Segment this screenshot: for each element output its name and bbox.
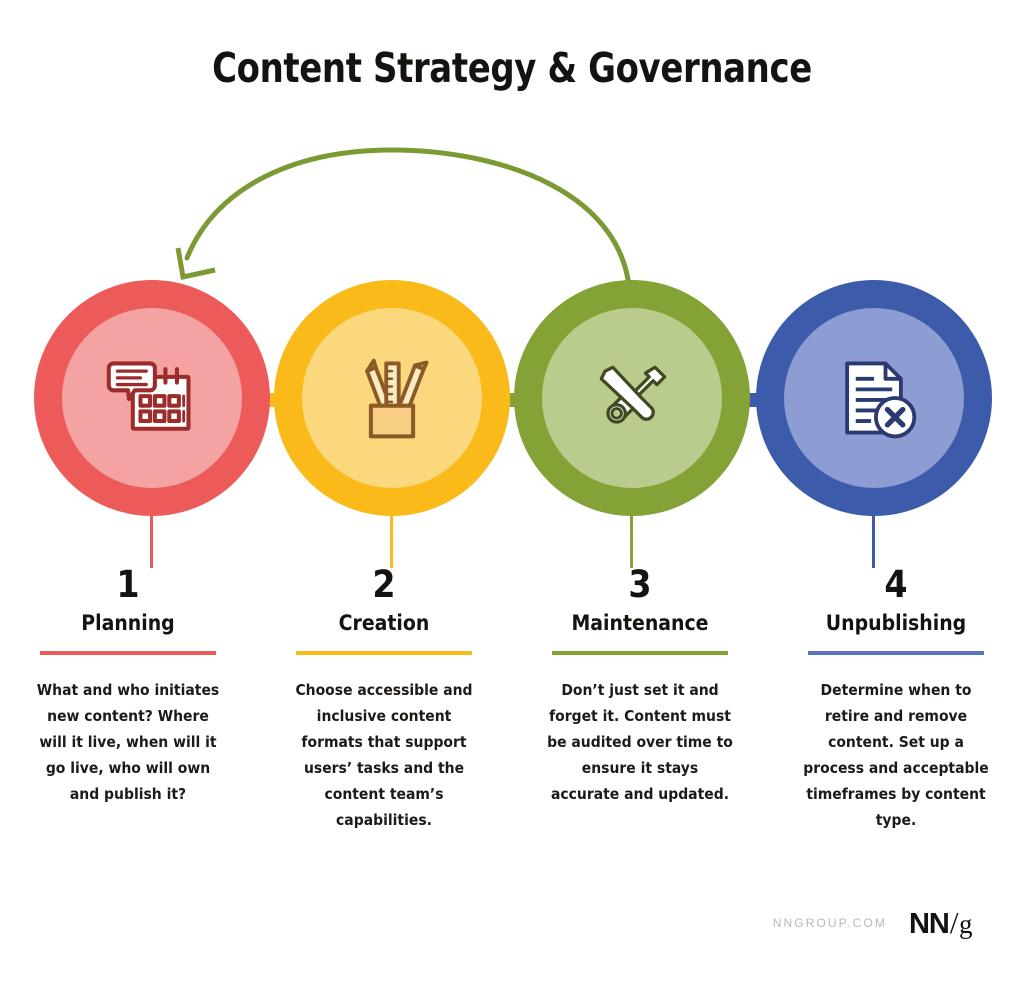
footer-url: NNGROUP.COM (773, 916, 887, 930)
step-column-planning: 1 Planning What and who initiates new co… (0, 566, 256, 833)
step-divider-rule (40, 651, 216, 655)
step-divider-rule (808, 651, 984, 655)
step-title: Maintenance (572, 613, 709, 634)
step-number: 1 (116, 566, 139, 603)
step-description: Choose accessible and inclusive content … (291, 677, 477, 833)
step-description: Determine when to retire and remove cont… (803, 677, 989, 833)
logo-nn: NN (909, 908, 949, 941)
nng-logo: NN/g (909, 905, 972, 941)
calendar-speech-bubble-icon (104, 350, 200, 446)
step-circle-creation[interactable] (274, 280, 510, 516)
step-number: 2 (372, 566, 395, 603)
step-description: What and who initiates new content? Wher… (35, 677, 221, 807)
step-title: Creation (339, 613, 430, 634)
step-text-columns: 1 Planning What and who initiates new co… (0, 566, 1024, 833)
step-column-unpublishing: 4 Unpublishing Determine when to retire … (768, 566, 1024, 833)
inner-circle-yellow (302, 308, 482, 488)
step-divider-rule (552, 651, 728, 655)
step-number: 4 (884, 566, 907, 603)
step-circle-unpublishing[interactable] (756, 280, 992, 516)
inner-circle-green (542, 308, 722, 488)
inner-circle-red (62, 308, 242, 488)
page-title: Content Strategy & Governance (41, 44, 983, 92)
step-description: Don’t just set it and forget it. Content… (547, 677, 733, 807)
step-title: Planning (81, 613, 174, 634)
stem-line-unpublishing (872, 516, 875, 568)
step-column-maintenance: 3 Maintenance Don’t just set it and forg… (512, 566, 768, 833)
step-number: 3 (628, 566, 651, 603)
logo-slash: / (950, 905, 958, 941)
tools-wrench-screwdriver-icon (584, 350, 680, 446)
step-circle-planning[interactable] (34, 280, 270, 516)
footer: NNGROUP.COM NN/g (773, 905, 972, 941)
step-column-creation: 2 Creation Choose accessible and inclusi… (256, 566, 512, 833)
process-circles-row (0, 280, 1024, 516)
stem-line-planning (150, 516, 153, 568)
inner-circle-blue (784, 308, 964, 488)
stem-line-creation (390, 516, 393, 568)
stem-line-maintenance (630, 516, 633, 568)
step-title: Unpublishing (826, 613, 966, 634)
step-circle-maintenance[interactable] (514, 280, 750, 516)
pencil-cup-icon (344, 350, 440, 446)
document-delete-icon (826, 350, 922, 446)
logo-g: g (959, 909, 972, 940)
step-divider-rule (296, 651, 472, 655)
